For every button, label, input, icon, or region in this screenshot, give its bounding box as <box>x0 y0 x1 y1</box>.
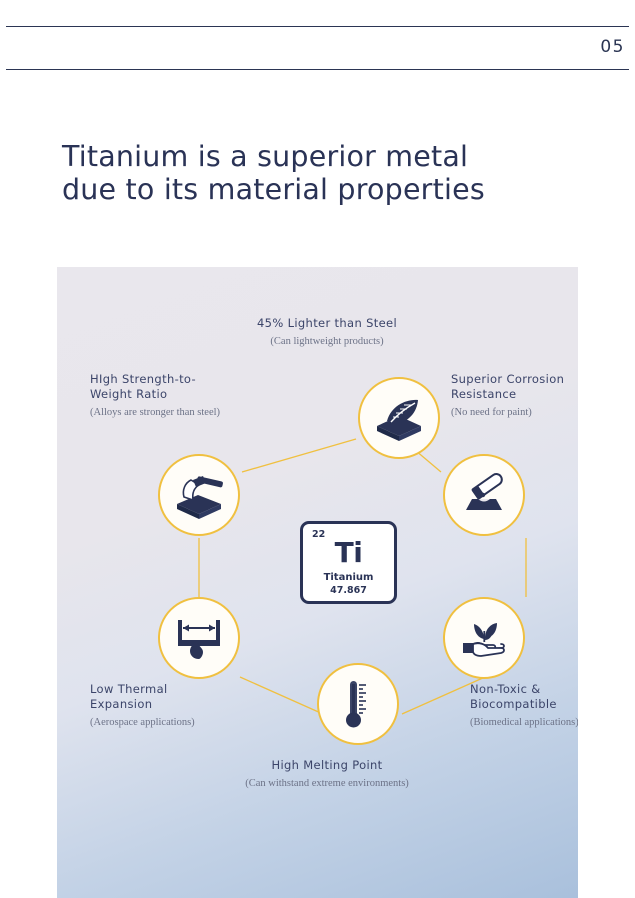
page-number: 05 <box>600 37 625 57</box>
label-subtext: (Aerospace applications) <box>90 715 270 730</box>
node-low-thermal-expansion[interactable] <box>158 597 240 679</box>
element-symbol: Ti <box>303 536 394 569</box>
label-subtext: (No need for paint) <box>451 405 578 420</box>
label-low-thermal-expansion: Low Thermal Expansion (Aerospace applica… <box>90 682 270 730</box>
hexagon-diagram: 22 Ti Titanium 47.867 45% Lighter than S… <box>57 267 578 898</box>
label-heading: Non-Toxic & Biocompatible <box>470 682 578 712</box>
header-rule-top <box>6 26 629 27</box>
test-tube-dripping-acid-icon <box>458 472 510 518</box>
node-corrosion-resistance[interactable] <box>443 454 525 536</box>
hammer-striking-slab-icon <box>172 471 226 519</box>
element-atomic-weight: 47.867 <box>303 585 394 596</box>
feather-on-metal-slab-icon <box>373 395 425 441</box>
label-heading: HIgh Strength-to- Weight Ratio <box>90 372 270 402</box>
label-heading: High Melting Point <box>187 758 467 773</box>
node-strength-to-weight[interactable] <box>158 454 240 536</box>
expansion-measure-flame-icon <box>172 615 226 661</box>
thermometer-icon <box>338 678 378 730</box>
label-subtext: (Alloys are stronger than steel) <box>90 405 270 420</box>
label-lighter-than-steel: 45% Lighter than Steel (Can lightweight … <box>217 316 437 349</box>
infographic-panel: 22 Ti Titanium 47.867 45% Lighter than S… <box>57 267 578 898</box>
label-strength-to-weight: HIgh Strength-to- Weight Ratio (Alloys a… <box>90 372 270 420</box>
node-lighter-than-steel[interactable] <box>358 377 440 459</box>
label-corrosion-resistance: Superior Corrosion Resistance (No need f… <box>451 372 578 420</box>
label-non-toxic-biocompatible: Non-Toxic & Biocompatible (Biomedical ap… <box>470 682 578 730</box>
label-subtext: (Can lightweight products) <box>217 334 437 349</box>
page-title: Titanium is a superior metal due to its … <box>62 140 582 206</box>
node-non-toxic-biocompatible[interactable] <box>443 597 525 679</box>
hand-holding-plant-icon <box>457 615 511 661</box>
label-heading: Superior Corrosion Resistance <box>451 372 578 402</box>
periodic-element-tile: 22 Ti Titanium 47.867 <box>300 521 397 604</box>
label-heading: Low Thermal Expansion <box>90 682 270 712</box>
label-high-melting-point: High Melting Point (Can withstand extrem… <box>187 758 467 791</box>
element-name: Titanium <box>303 572 394 583</box>
page-header: 05 <box>0 26 635 70</box>
label-heading: 45% Lighter than Steel <box>217 316 437 331</box>
header-rule-bottom <box>6 69 629 70</box>
label-subtext: (Biomedical applications) <box>470 715 578 730</box>
label-subtext: (Can withstand extreme environments) <box>187 776 467 791</box>
node-high-melting-point[interactable] <box>317 663 399 745</box>
